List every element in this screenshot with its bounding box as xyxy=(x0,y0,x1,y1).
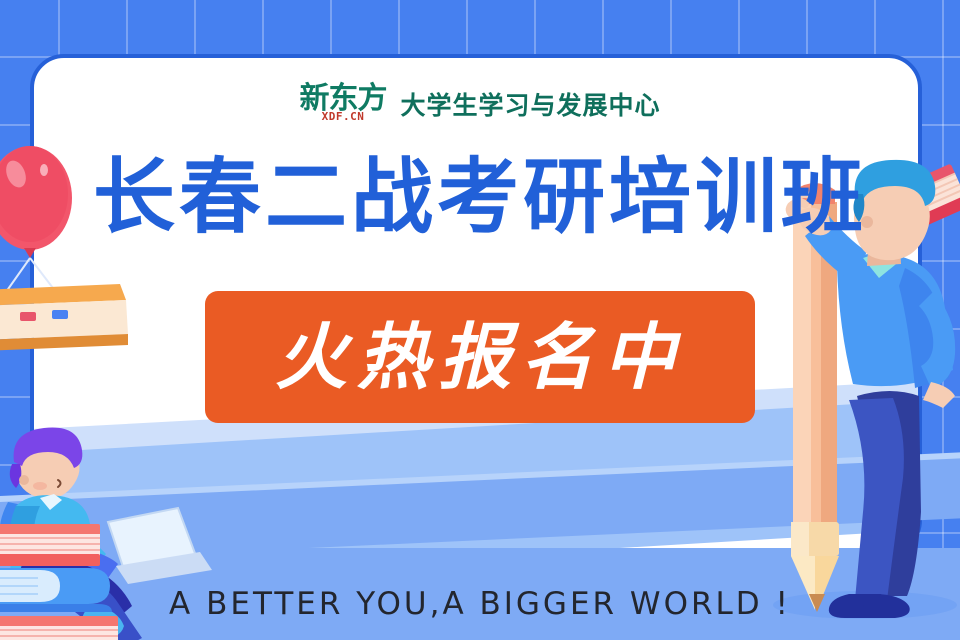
promo-banner: 新东方 XDF.CN 大学生学习与发展中心 长春二战考研培训班 火热报名中 A … xyxy=(0,0,960,640)
enrollment-cta-banner[interactable]: 火热报名中 xyxy=(205,291,755,423)
logo-website-url: XDF.CN xyxy=(322,111,365,123)
cta-label: 火热报名中 xyxy=(275,318,685,396)
small-book-icon xyxy=(0,284,128,351)
tagline: A BETTER YOU,A BIGGER WORLD ! xyxy=(0,586,960,622)
page-title: 长春二战考研培训班 xyxy=(0,150,960,246)
logo-subtitle: 大学生学习与发展中心 xyxy=(400,86,660,122)
xdf-logo: 新东方 XDF.CN xyxy=(299,84,386,123)
brand-logo-row: 新东方 XDF.CN 大学生学习与发展中心 xyxy=(0,84,960,123)
book-stack-illustration xyxy=(0,524,118,640)
